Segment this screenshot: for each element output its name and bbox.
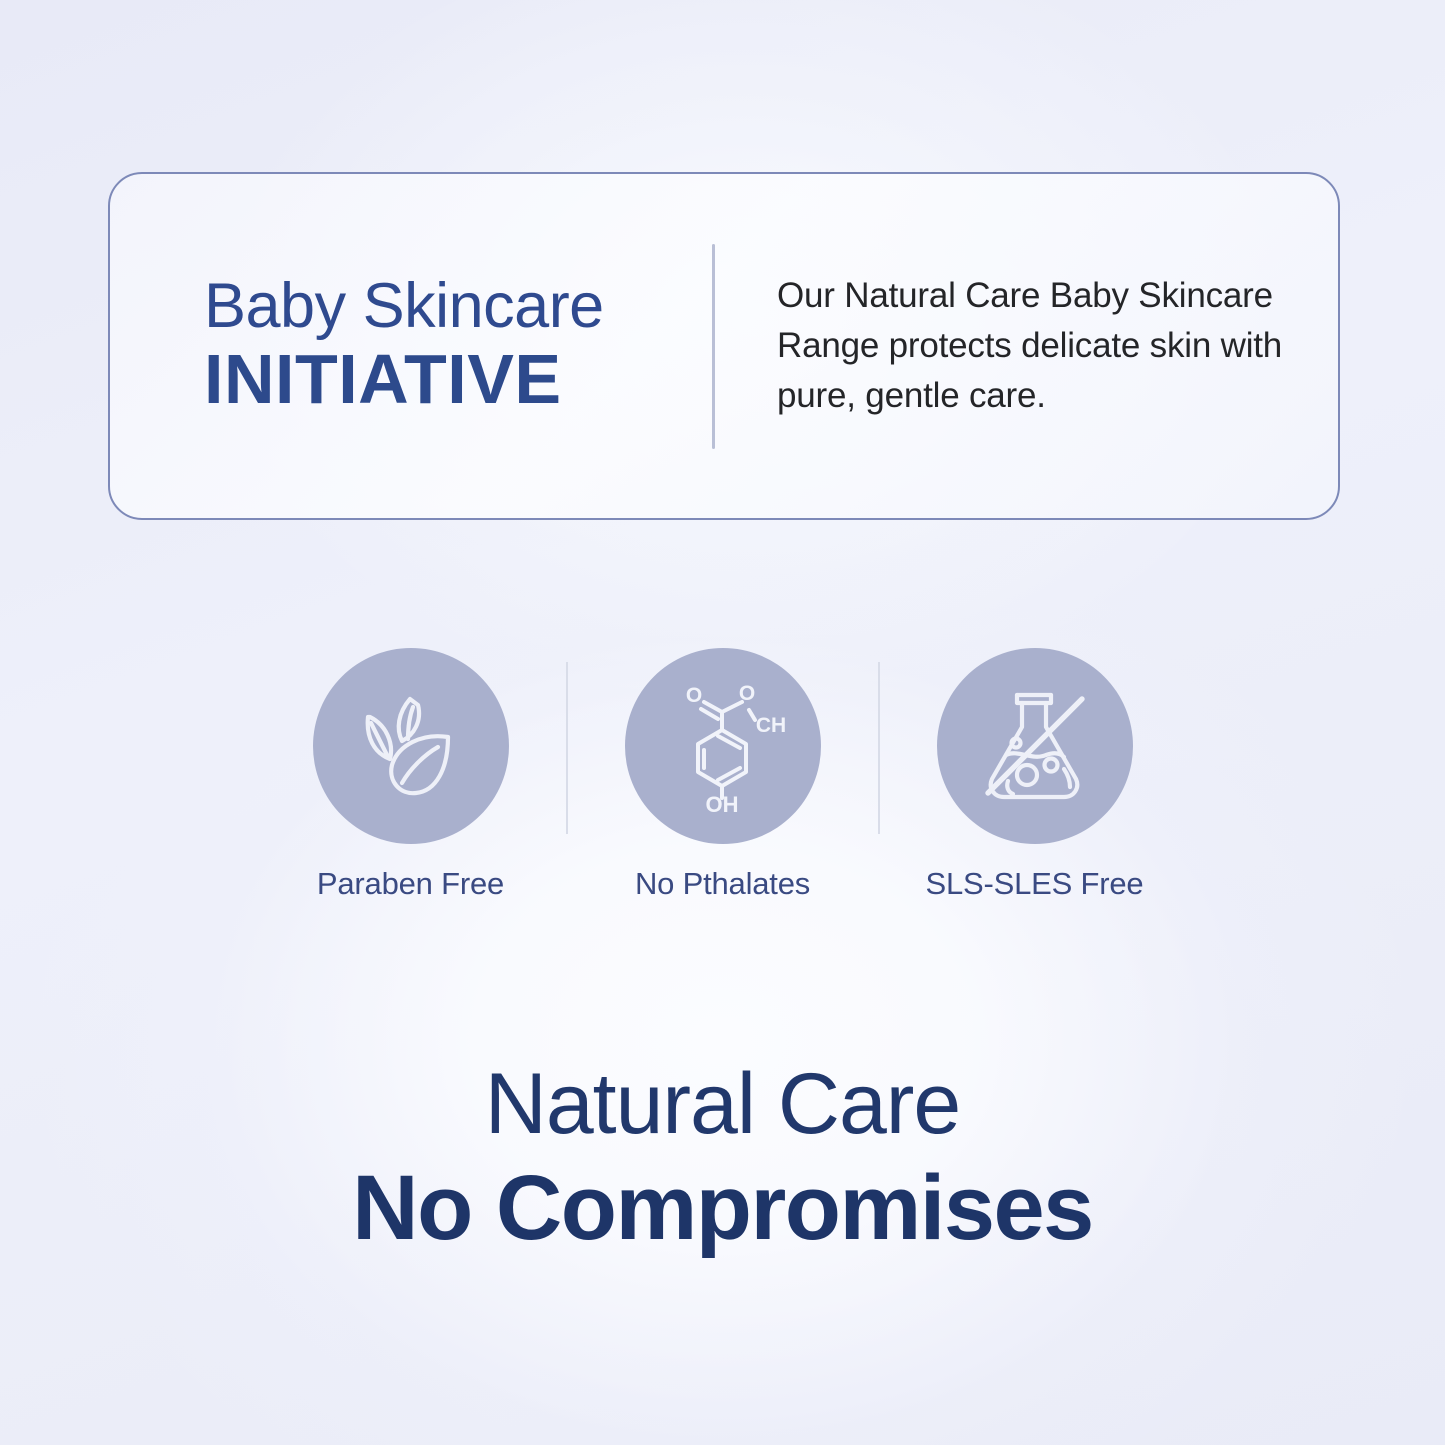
headline-line-1: Natural Care: [0, 1055, 1445, 1153]
initiative-description-text: Our Natural Care Baby Skincare Range pro…: [777, 271, 1298, 420]
badge-paraben-free: Paraben Free: [256, 648, 566, 902]
initiative-logo-block: Baby Skincare INITIATIVE: [110, 274, 710, 418]
badge-label-paraben-free: Paraben Free: [317, 866, 504, 902]
badge-no-pthalates: O O CH OH No Pthalates: [568, 648, 878, 902]
badge-circle-paraben-free: [313, 648, 509, 844]
badge-label-no-pthalates: No Pthalates: [635, 866, 810, 902]
crossed-out-flask-icon: [972, 683, 1098, 809]
badge-circle-sls-sles-free: [937, 648, 1133, 844]
initiative-card: Baby Skincare INITIATIVE Our Natural Car…: [108, 172, 1340, 520]
logo-line-primary: Baby Skincare: [204, 274, 710, 338]
badge-label-sls-sles-free: SLS-SLES Free: [926, 866, 1144, 902]
label-methyl: CH: [755, 714, 785, 737]
leaves-icon: [350, 685, 472, 807]
label-ester-oxygen: O: [738, 682, 754, 705]
label-hydroxyl: OH: [705, 792, 738, 812]
chemical-structure-icon: O O CH OH: [654, 680, 792, 812]
headline-line-2: No Compromises: [0, 1155, 1445, 1262]
bottom-headline: Natural Care No Compromises: [0, 1055, 1445, 1262]
label-carbonyl-oxygen: O: [685, 684, 701, 707]
initiative-description-block: Our Natural Care Baby Skincare Range pro…: [715, 271, 1338, 420]
logo-line-secondary: INITIATIVE: [204, 342, 710, 418]
badge-circle-no-pthalates: O O CH OH: [625, 648, 821, 844]
badge-sls-sles-free: SLS-SLES Free: [880, 648, 1190, 902]
claims-badges-row: Paraben Free: [0, 648, 1445, 898]
